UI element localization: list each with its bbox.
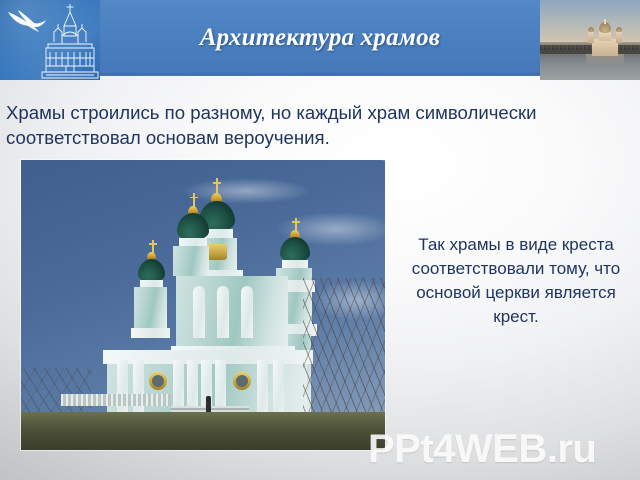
- header-photo-cathedral: [588, 20, 622, 56]
- andrews-church-photo: [21, 160, 385, 450]
- church-line-art-icon: [40, 2, 100, 80]
- logo-panel: [0, 0, 100, 80]
- photo-church-structure: [21, 160, 385, 450]
- photo-balustrade: [61, 394, 171, 406]
- page-title: Архитектура храмов: [100, 0, 540, 76]
- side-paragraph: Так храмы в виде креста соответствовали …: [404, 233, 628, 329]
- watermark-label: PPt4WEB.ru: [368, 427, 596, 471]
- header-cathedral-photo: [540, 0, 640, 80]
- photo-ground: [21, 412, 385, 450]
- intro-paragraph: Храмы строились по разному, но каждый хр…: [6, 100, 634, 150]
- slide-canvas: Архитектура храмов Храмы строились по ра…: [0, 0, 640, 480]
- header-photo-reflection: [586, 54, 624, 65]
